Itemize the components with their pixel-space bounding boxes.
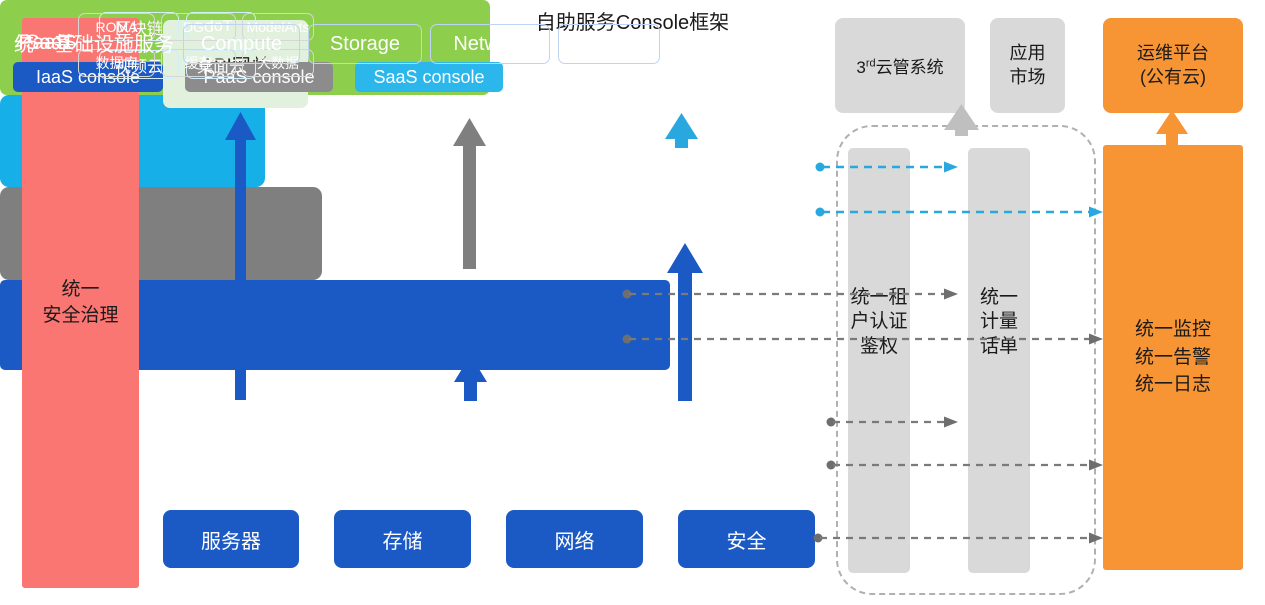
infra-chip-cce-label: CCE — [588, 33, 630, 56]
app-market-label: 应用 市场 — [1010, 42, 1046, 89]
infra-chip-storage[interactable]: Storage — [308, 24, 422, 64]
ops-platform-body-label: 统一监控 统一告警 统一日志 — [1135, 316, 1211, 399]
resource-box-storage: 存储 — [334, 510, 471, 568]
resource-box-network: 网络 — [506, 510, 643, 568]
ops-platform-top-box: 运维平台 (公有云) — [1103, 18, 1243, 113]
infrastructure-services-label: 统一基础设施服务 — [14, 28, 174, 57]
saas-console-chip[interactable]: SaaS console — [355, 62, 503, 92]
resource-box-storage-label: 存储 — [383, 525, 423, 554]
unified-tenant-auth-label: 统一租 户认证 鉴权 — [850, 148, 907, 359]
arrow-paas-to-console — [453, 118, 486, 269]
security-governance-panel: 统一 安全治理 — [22, 18, 139, 588]
ops-platform-body-box: 统一监控 统一告警 统一日志 — [1103, 145, 1243, 570]
unified-metering-label: 统一 计量 话单 — [980, 148, 1018, 359]
app-market-box: 应用 市场 — [990, 18, 1065, 113]
resource-box-server: 服务器 — [163, 510, 299, 568]
arrow-saas-to-console — [665, 113, 698, 148]
security-governance-label: 统一 安全治理 — [42, 277, 118, 328]
unified-tenant-auth-column: 统一租 户认证 鉴权 — [848, 148, 910, 573]
ops-platform-top-label: 运维平台 (公有云) — [1137, 42, 1209, 89]
resource-box-network-label: 网络 — [555, 525, 595, 554]
infra-chip-compute-label: Compute — [201, 33, 282, 56]
saas-console-label: SaaS console — [373, 67, 484, 88]
infra-chip-cce[interactable]: CCE — [558, 24, 660, 64]
resource-box-server-label: 服务器 — [201, 525, 261, 554]
infra-chip-compute[interactable]: Compute — [183, 24, 300, 64]
architecture-diagram: 统一 安全治理 API网关 自助服务Console框架 IaaS console… — [0, 0, 1265, 605]
infra-chip-storage-label: Storage — [330, 33, 400, 56]
infra-chip-network[interactable]: Network — [430, 24, 550, 64]
arrow-infra-to-saas — [667, 243, 703, 401]
third-party-label: 3rd云管系统 — [856, 53, 943, 78]
resource-box-security-label: 安全 — [727, 525, 767, 554]
resource-box-security: 安全 — [678, 510, 815, 568]
arrow-ops-body-to-top — [1156, 110, 1188, 146]
infra-chip-network-label: Network — [453, 33, 526, 56]
third-party-cloud-mgmt-box: 3rd云管系统 — [835, 18, 965, 113]
unified-metering-column: 统一 计量 话单 — [968, 148, 1030, 573]
